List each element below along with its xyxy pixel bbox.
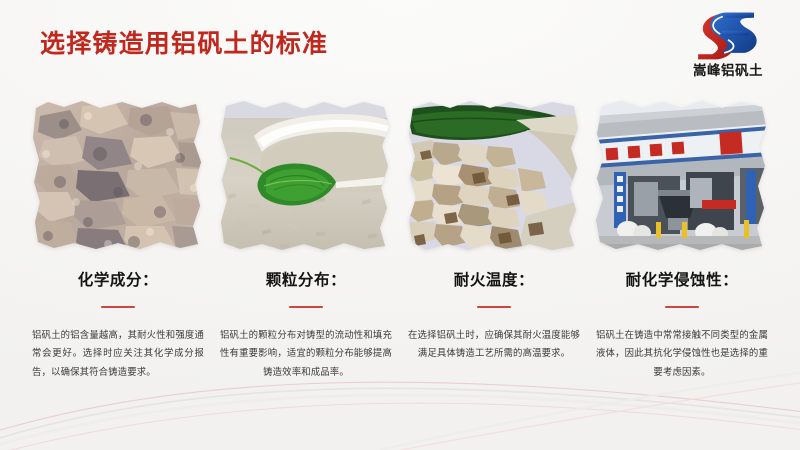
bauxite-raw-rock-illustration [30, 96, 206, 256]
brand-logo: 嵩峰铝矾土 [672, 8, 784, 92]
heading-divider [477, 306, 511, 308]
feature-heading: 耐化学侵蚀性： [626, 268, 739, 290]
heading-divider [665, 306, 699, 308]
factory-workshop-photo [594, 96, 770, 256]
feature-heading: 颗粒分布： [266, 268, 347, 290]
feature-body: 铝矾土在铸造中常常接触不同类型的金属液体，因此其抗化学侵蚀性也是选择的重要考虑因… [596, 327, 768, 382]
slide-root: 嵩峰铝矾土 选择铸造用铝矾土的标准 [0, 0, 800, 450]
factory-workshop-illustration [594, 96, 770, 256]
feature-column: 耐火温度： 在选择铝矾土时，应确保其耐火温度能够满足具体铸造工艺所需的高温要求。 [406, 96, 582, 382]
bauxite-raw-rock-photo [30, 96, 206, 256]
feature-column: 化学成分： 铝矾土的铝含量越高，其耐火性和强度通常会更好。选择时应关注其化学成分… [30, 96, 206, 382]
brand-logo-text: 嵩峰铝矾土 [693, 65, 763, 79]
feature-columns: 化学成分： 铝矾土的铝含量越高，其耐火性和强度通常会更好。选择时应关注其化学成分… [0, 96, 800, 382]
bauxite-powder-bowl-leaf-photo [218, 96, 394, 256]
feature-body: 在选择铝矾土时，应确保其耐火温度能够满足具体铸造工艺所需的高温要求。 [408, 327, 580, 364]
page-title: 选择铸造用铝矾土的标准 [40, 30, 328, 59]
feature-heading: 化学成分： [78, 268, 159, 290]
bauxite-granules-illustration [406, 96, 582, 256]
heading-divider [101, 306, 135, 308]
bauxite-powder-illustration [218, 96, 394, 256]
feature-column: 颗粒分布： 铝矾土的颗粒分布对铸型的流动性和填充性有重要影响，适宜的颗粒分布能够… [218, 96, 394, 382]
feature-column: 耐化学侵蚀性： 铝矾土在铸造中常常接触不同类型的金属液体，因此其抗化学侵蚀性也是… [594, 96, 770, 382]
feature-body: 铝矾土的铝含量越高，其耐火性和强度通常会更好。选择时应关注其化学成分报告，以确保… [32, 327, 204, 382]
feature-body: 铝矾土的颗粒分布对铸型的流动性和填充性有重要影响，适宜的颗粒分布能够提高铸造效率… [220, 327, 392, 382]
heading-divider [289, 306, 323, 308]
sf-swoosh-logo-icon [689, 8, 767, 64]
bauxite-granules-leaf-photo [406, 96, 582, 256]
feature-heading: 耐火温度： [454, 268, 535, 290]
